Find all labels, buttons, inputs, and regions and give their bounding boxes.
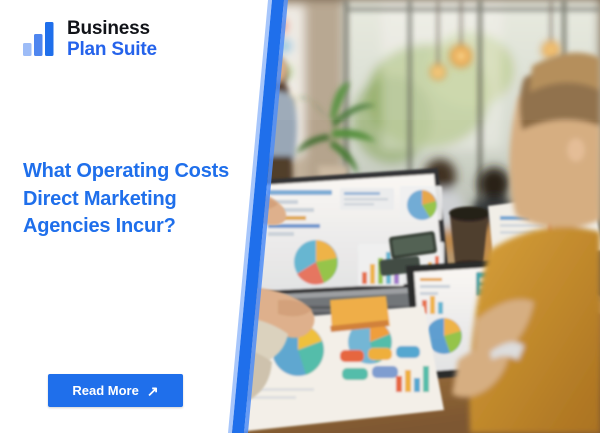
- bar-chart-logo-icon: [22, 21, 58, 57]
- brand-line-1: Business: [67, 18, 157, 39]
- blog-banner-card: Business Plan Suite What Operating Costs…: [0, 0, 600, 433]
- office-meeting-photo: [232, 0, 600, 433]
- read-more-label: Read More: [72, 383, 138, 398]
- brand-line-2: Plan Suite: [67, 39, 157, 60]
- brand-logo: Business Plan Suite: [22, 18, 157, 61]
- arrow-up-right-icon: ↗: [147, 384, 159, 398]
- page-title: What Operating Costs Direct Marketing Ag…: [23, 158, 238, 241]
- brand-wordmark: Business Plan Suite: [67, 18, 157, 61]
- read-more-button[interactable]: Read More ↗: [48, 374, 183, 407]
- left-text-panel: Business Plan Suite What Operating Costs…: [0, 0, 275, 433]
